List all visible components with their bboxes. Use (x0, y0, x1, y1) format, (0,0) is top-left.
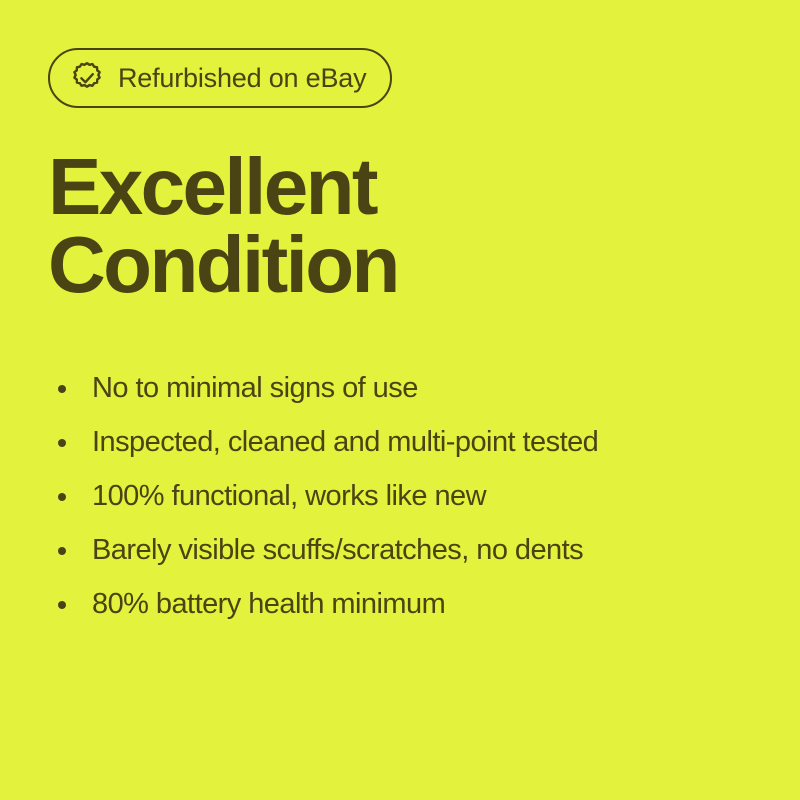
page-title-line-2: Condition (48, 226, 398, 304)
refurbished-condition-card: Refurbished on eBay Excellent Condition … (0, 0, 800, 800)
page-title: Excellent Condition (48, 148, 398, 305)
list-item: No to minimal signs of use (52, 362, 762, 416)
list-item-label: Inspected, cleaned and multi-point teste… (92, 427, 598, 459)
refurbished-badge-pill: Refurbished on eBay (48, 48, 392, 108)
bullet-dot-icon (58, 385, 66, 393)
condition-feature-list: No to minimal signs of use Inspected, cl… (52, 362, 762, 632)
page-title-line-1: Excellent (48, 148, 398, 226)
bullet-dot-icon (58, 547, 66, 555)
verified-seal-check-icon (70, 61, 104, 95)
list-item-label: 100% functional, works like new (92, 481, 486, 513)
list-item-label: 80% battery health minimum (92, 589, 445, 621)
list-item-label: Barely visible scuffs/scratches, no dent… (92, 535, 583, 567)
list-item: 100% functional, works like new (52, 470, 762, 524)
bullet-dot-icon (58, 601, 66, 609)
refurbished-badge-label: Refurbished on eBay (118, 65, 366, 92)
bullet-dot-icon (58, 439, 66, 447)
list-item-label: No to minimal signs of use (92, 373, 418, 405)
bullet-dot-icon (58, 493, 66, 501)
list-item: Inspected, cleaned and multi-point teste… (52, 416, 762, 470)
list-item: 80% battery health minimum (52, 578, 762, 632)
list-item: Barely visible scuffs/scratches, no dent… (52, 524, 762, 578)
